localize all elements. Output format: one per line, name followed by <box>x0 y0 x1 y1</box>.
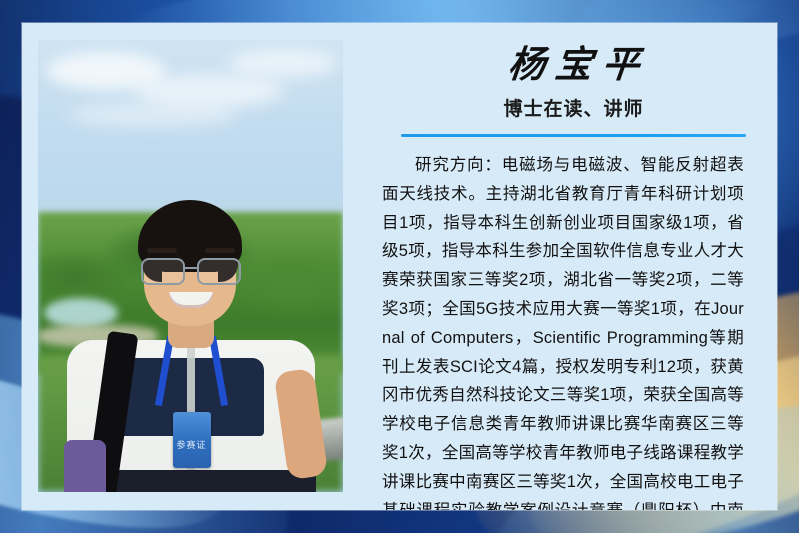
portrait-photo: 参赛证 <box>38 40 343 492</box>
badge-label: 参赛证 <box>173 438 211 451</box>
lens-left <box>141 258 185 285</box>
eyeglasses <box>139 258 243 282</box>
profile-bio: 研究方向：电磁场与电磁波、智能反射超表面天线技术。主持湖北省教育厅青年科研计划项… <box>382 151 744 510</box>
eyebrow-right <box>205 248 235 253</box>
eyebrow-left <box>147 248 177 253</box>
profile-subtitle: 博士在读、讲师 <box>382 97 765 123</box>
profile-content: 杨宝平 博士在读、讲师 研究方向：电磁场与电磁波、智能反射超表面天线技术。主持湖… <box>382 23 765 510</box>
person-figure: 参赛证 <box>38 40 343 492</box>
glasses-bridge <box>184 267 198 269</box>
slide-root: 参赛证 杨宝平 博士在读、讲师 研究方向：电磁场与电磁波、智能反射超表面天线 <box>0 0 799 533</box>
section-divider <box>401 134 746 137</box>
profile-name: 杨宝平 <box>380 43 768 89</box>
content-panel: 参赛证 杨宝平 博士在读、讲师 研究方向：电磁场与电磁波、智能反射超表面天线 <box>22 23 777 510</box>
lens-right <box>197 258 241 285</box>
backpack <box>64 440 106 492</box>
conference-badge: 参赛证 <box>173 412 211 468</box>
